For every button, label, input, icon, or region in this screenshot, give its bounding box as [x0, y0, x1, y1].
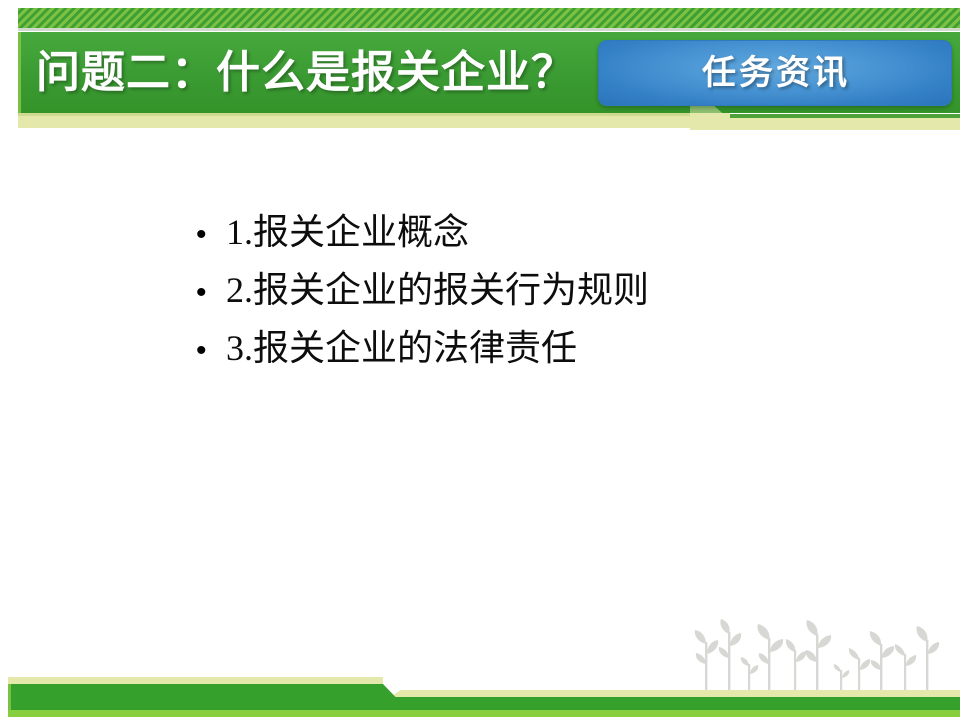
slide-title: 问题二：什么是报关企业？	[36, 36, 606, 110]
list-item-label: 2.报关企业的报关行为规则	[226, 272, 649, 308]
list-item-label: 3.报关企业的法律责任	[226, 330, 577, 366]
footer-light-green-line-left	[8, 710, 408, 717]
header-pale-band-highlight	[18, 113, 700, 116]
list-item: • 1.报关企业概念	[196, 214, 896, 272]
slide-canvas: 问题二：什么是报关企业？ 任务资讯 • 1.报关企业概念 • 2.报关企业的报关…	[0, 0, 960, 720]
sprout-icon-group	[690, 618, 940, 692]
header-title-bar-left-edge	[18, 32, 21, 113]
list-item: • 3.报关企业的法律责任	[196, 330, 896, 388]
header-striped-band-shadow	[18, 28, 960, 31]
header-striped-band	[18, 8, 960, 28]
header-step-notch-pale	[690, 118, 960, 130]
footer-green-band-left-edge	[8, 684, 11, 710]
footer-green-band-left	[8, 684, 408, 710]
header-step-notch	[690, 104, 960, 130]
list-item-label: 1.报关企业概念	[226, 214, 469, 250]
task-info-badge-label: 任务资讯	[599, 41, 953, 107]
footer-pale-band-left	[8, 677, 383, 684]
slide-header: 问题二：什么是报关企业？ 任务资讯	[0, 0, 960, 140]
bullet-dot-icon: •	[196, 336, 226, 366]
bullet-dot-icon: •	[196, 220, 226, 250]
bullet-list: • 1.报关企业概念 • 2.报关企业的报关行为规则 • 3.报关企业的法律责任	[196, 214, 896, 388]
sprout-plants-decoration	[690, 618, 940, 692]
bullet-dot-icon: •	[196, 278, 226, 308]
list-item: • 2.报关企业的报关行为规则	[196, 272, 896, 330]
task-info-badge[interactable]: 任务资讯	[598, 40, 952, 106]
